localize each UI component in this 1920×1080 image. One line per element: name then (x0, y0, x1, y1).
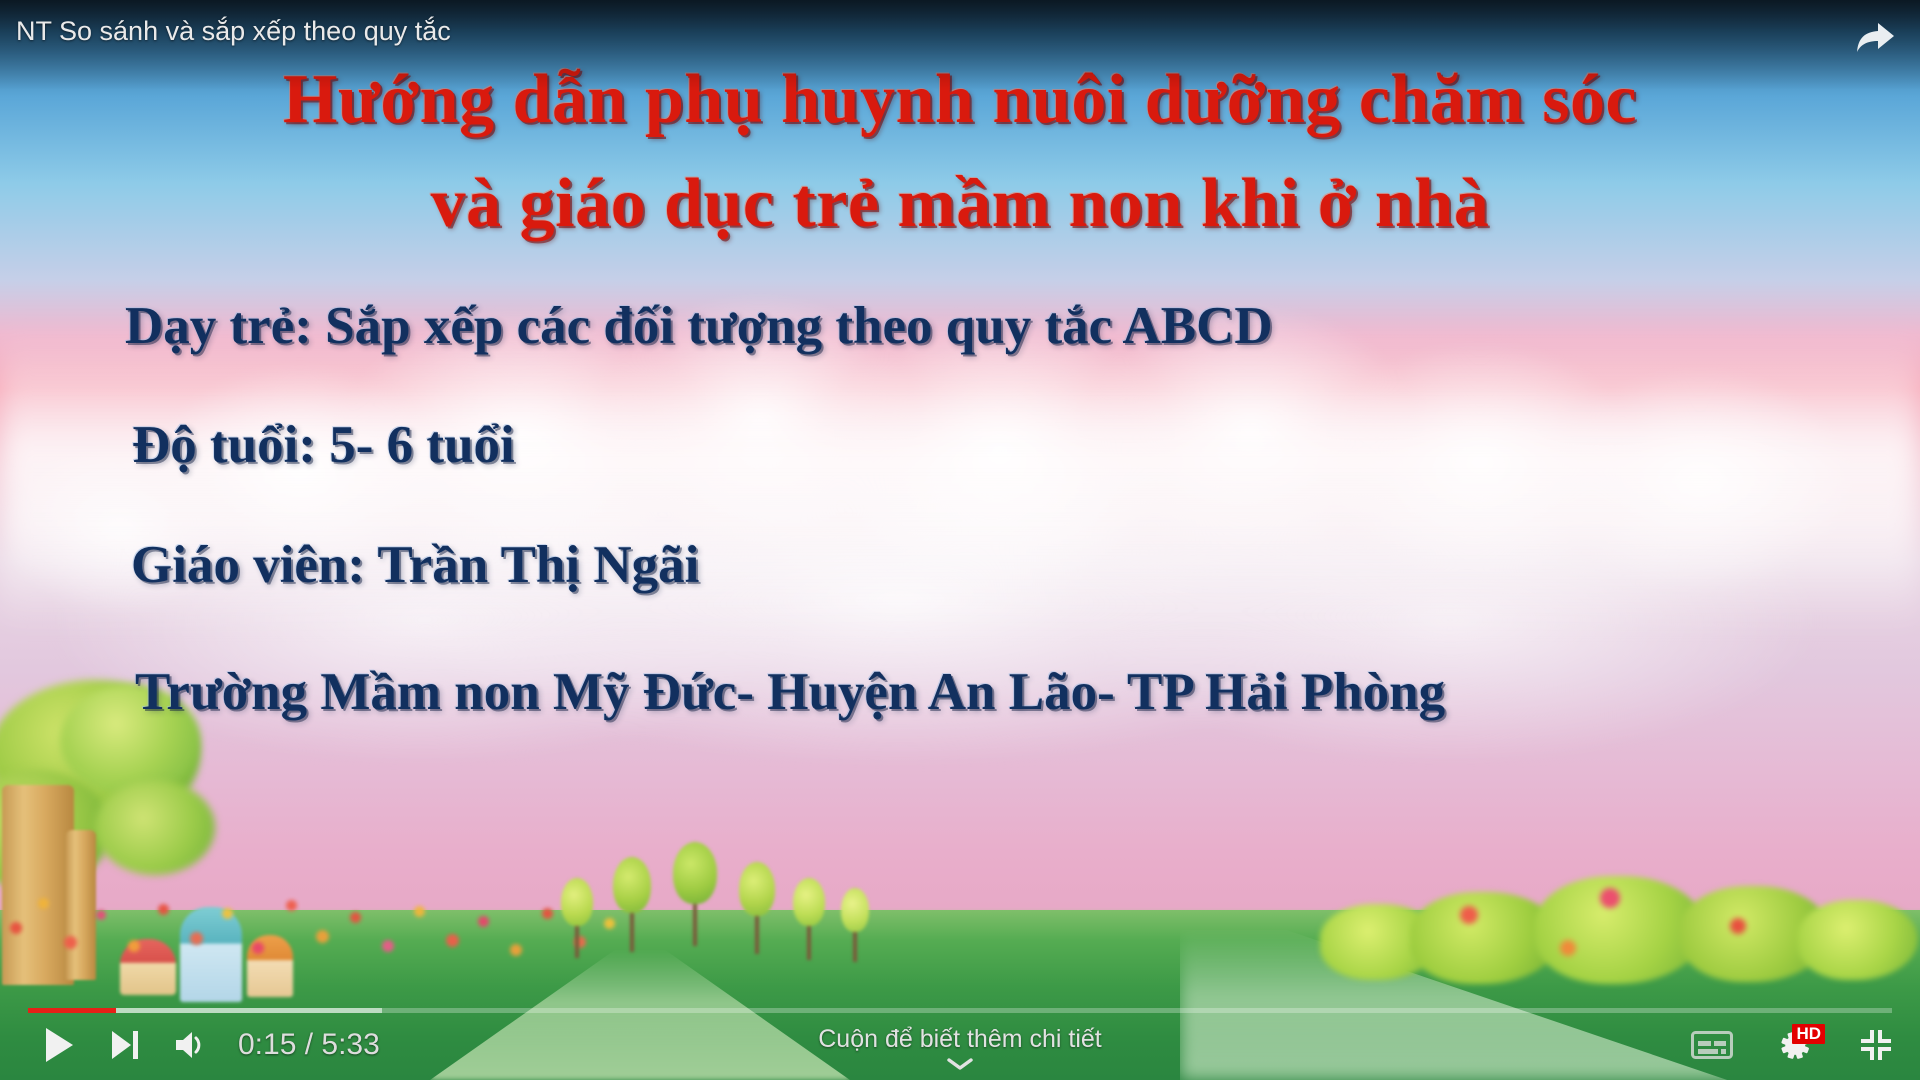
next-video-button[interactable] (92, 1014, 158, 1076)
player-control-bar: 0:15 / 5:33 Cuộn để biết thêm chi tiết (0, 1000, 1920, 1080)
exit-fullscreen-icon (1857, 1026, 1895, 1064)
next-track-icon (109, 1028, 141, 1062)
subtitles-cc-icon (1691, 1029, 1733, 1061)
time-display: 0:15 / 5:33 (238, 1028, 380, 1062)
play-button[interactable] (26, 1014, 92, 1076)
slide-text-block: Hướng dẫn phụ huynh nuôi dưỡng chăm sóc … (0, 0, 1920, 1080)
left-controls: 0:15 / 5:33 (26, 1014, 380, 1076)
fullscreen-button[interactable] (1850, 1019, 1902, 1071)
slide-title-line-1: Hướng dẫn phụ huynh nuôi dưỡng chăm sóc (0, 60, 1920, 140)
volume-button[interactable] (158, 1014, 224, 1076)
slide-body-line-school: Trường Mầm non Mỹ Đức- Huyện An Lão- TP … (135, 662, 1445, 722)
volume-on-icon (173, 1028, 209, 1062)
scroll-hint-text: Cuộn để biết thêm chi tiết (818, 1025, 1102, 1054)
share-button[interactable] (1848, 12, 1902, 66)
slide-body-line-lesson: Dạy trẻ: Sắp xếp các đối tượng theo quy … (125, 296, 1273, 356)
right-controls: HD (1686, 1014, 1902, 1076)
video-player: Hướng dẫn phụ huynh nuôi dưỡng chăm sóc … (0, 0, 1920, 1080)
share-arrow-icon (1855, 20, 1895, 58)
quality-badge: HD (1792, 1024, 1825, 1044)
subtitles-button[interactable] (1686, 1019, 1738, 1071)
video-title: NT So sánh và sắp xếp theo quy tắc (16, 16, 451, 47)
slide-body-line-age: Độ tuổi: 5- 6 tuổi (132, 415, 515, 475)
settings-button[interactable]: HD (1764, 1019, 1824, 1071)
chevron-down-icon (945, 1056, 975, 1072)
play-icon (42, 1026, 76, 1064)
slide-body-line-teacher: Giáo viên: Trần Thị Ngãi (131, 535, 699, 595)
progress-played (28, 1008, 116, 1013)
slide-title-line-2: và giáo dục trẻ mầm non khi ở nhà (0, 164, 1920, 244)
video-frame: Hướng dẫn phụ huynh nuôi dưỡng chăm sóc … (0, 0, 1920, 1080)
progress-track[interactable] (28, 1008, 1892, 1013)
